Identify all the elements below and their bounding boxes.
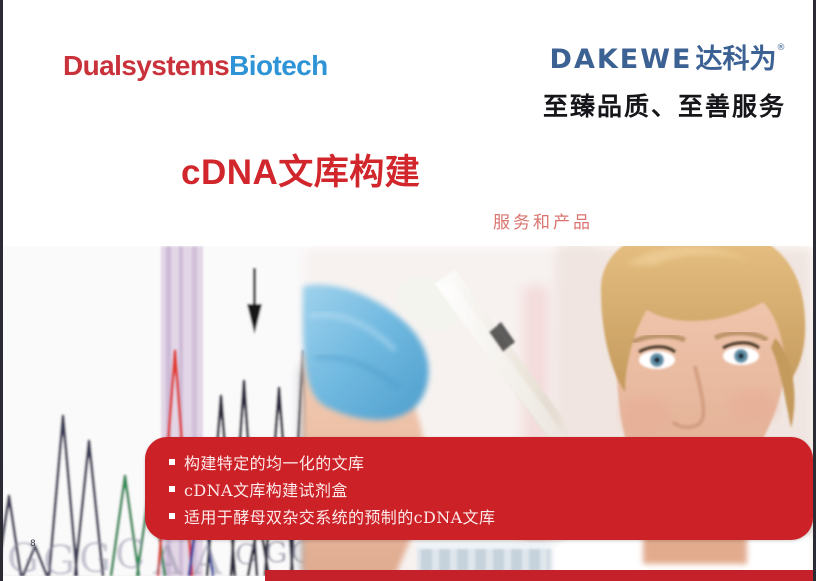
registered-trademark-icon: ® bbox=[776, 44, 785, 53]
dakewe-logo-latin: DAKEWE bbox=[550, 44, 693, 75]
svg-text:G: G bbox=[79, 536, 111, 576]
dakewe-logo-chinese: 达科为 bbox=[695, 44, 776, 75]
bullet-list: 构建特定的均一化的文库 cDNA文库构建试剂盒 适用于酵母双杂交系统的预制的cD… bbox=[169, 449, 495, 530]
svg-text:A: A bbox=[152, 538, 183, 576]
list-item: 适用于酵母双杂交系统的预制的cDNA文库 bbox=[169, 503, 495, 529]
bullet-text: cDNA文库构建试剂盒 bbox=[184, 477, 348, 501]
page-title: cDNA文库构建 bbox=[181, 155, 420, 191]
presentation-slide: DualsystemsBiotech DAKEWE达科为® 至臻品质、至善服务 … bbox=[0, 0, 820, 581]
bottom-red-bar bbox=[265, 570, 813, 581]
slide-number: 8 bbox=[30, 539, 36, 549]
page-title-latin: cDNA bbox=[181, 153, 278, 192]
slide-right-padding bbox=[816, 0, 820, 581]
svg-text:G: G bbox=[265, 536, 287, 569]
dakewe-tagline: 至臻品质、至善服务 bbox=[543, 87, 783, 123]
dakewe-brand-lockup: DAKEWE达科为® 至臻品质、至善服务 bbox=[543, 46, 783, 123]
slide-left-border bbox=[0, 0, 3, 581]
page-subtitle: 服务和产品 bbox=[493, 208, 593, 233]
svg-text:C: C bbox=[235, 538, 256, 571]
header-band: DualsystemsBiotech DAKEWE达科为® 至臻品质、至善服务 … bbox=[3, 0, 813, 246]
list-item: cDNA文库构建试剂盒 bbox=[169, 476, 495, 502]
bullet-text: 构建特定的均一化的文库 bbox=[184, 450, 364, 474]
dualsystems-biotech-logo: DualsystemsBiotech bbox=[63, 52, 328, 80]
svg-text:G: G bbox=[43, 538, 75, 576]
square-bullet-icon bbox=[169, 513, 175, 519]
square-bullet-icon bbox=[169, 459, 175, 465]
page-title-chinese: 文库构建 bbox=[278, 153, 420, 193]
svg-text:A: A bbox=[192, 538, 223, 576]
square-bullet-icon bbox=[169, 486, 175, 492]
list-item: 构建特定的均一化的文库 bbox=[169, 449, 495, 475]
svg-text:C: C bbox=[115, 532, 146, 576]
brand-word-biotech: Biotech bbox=[229, 50, 327, 81]
dakewe-logo: DAKEWE达科为® bbox=[550, 46, 777, 73]
brand-word-dualsystems: Dualsystems bbox=[63, 50, 229, 81]
bullet-callout-panel: 构建特定的均一化的文库 cDNA文库构建试剂盒 适用于酵母双杂交系统的预制的cD… bbox=[145, 437, 813, 540]
bottom-white-gap bbox=[3, 576, 265, 581]
bullet-text: 适用于酵母双杂交系统的预制的cDNA文库 bbox=[184, 504, 495, 528]
